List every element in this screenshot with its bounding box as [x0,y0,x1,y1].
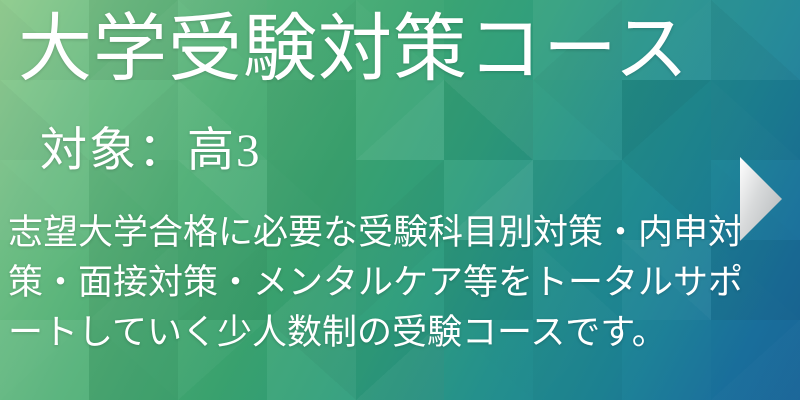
background-tile-facet [267,80,356,160]
background-tile-facet [444,80,533,160]
background-tile [533,80,622,160]
background-tile-facet [711,80,800,160]
background-tile-facet [711,0,800,80]
background-tile-facet [622,80,711,160]
background-tile-facet [533,80,622,160]
description-line: ートしていく少人数制の受験コースです。 [8,308,744,358]
background-tile [267,80,356,160]
course-banner: 大学受験対策コース 対象：高3 志望大学合格に必要な受験科目別対策・内申対 策・… [0,0,800,400]
background-tile [444,80,533,160]
target-audience-label: 対象：高3 [40,128,262,175]
play-triangle-right-icon[interactable] [740,157,782,241]
page-title: 大学受験対策コース [18,13,689,87]
background-tile [622,80,711,160]
description-line: 志望大学合格に必要な受験科目別対策・内申対 [8,208,744,258]
course-description: 志望大学合格に必要な受験科目別対策・内申対 策・面接対策・メンタルケア等をトータ… [8,208,744,358]
background-tile [356,80,445,160]
description-line: 策・面接対策・メンタルケア等をトータルサポ [8,258,744,308]
background-tile-facet [356,80,445,160]
background-tile [711,80,800,160]
background-tile [711,0,800,80]
